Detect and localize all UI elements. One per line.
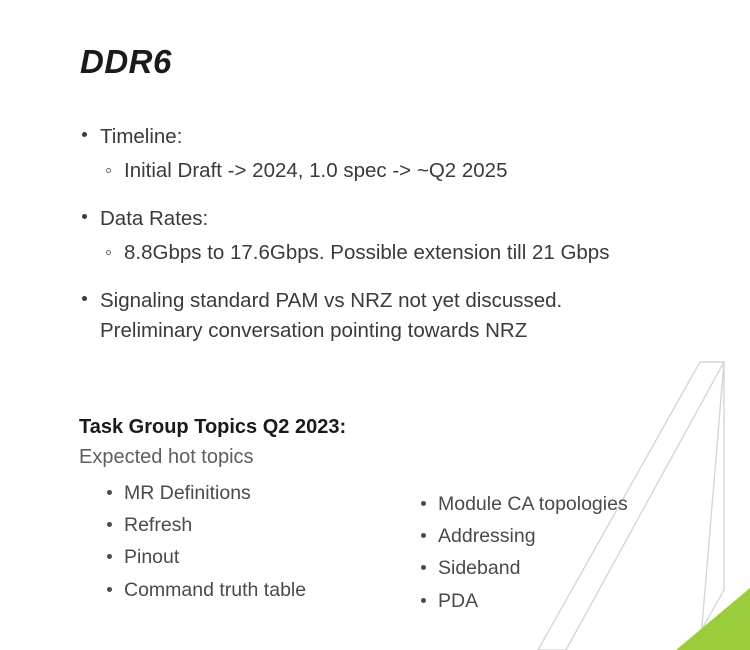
bullet-dot-icon bbox=[82, 132, 87, 137]
bullet-level1-timeline-label: Timeline: bbox=[100, 125, 182, 148]
bullet-level1-data-rates-label: Data Rates: bbox=[100, 207, 208, 230]
bullet-level1-timeline: Timeline: bbox=[78, 122, 718, 152]
bullet-dot-icon bbox=[421, 565, 426, 570]
bullet-ring-icon bbox=[106, 250, 111, 255]
bullet-dot-icon bbox=[421, 533, 426, 538]
bullet-group-timeline: Timeline: Initial Draft -> 2024, 1.0 spe… bbox=[78, 122, 718, 185]
list-item-label: Sideband bbox=[438, 557, 520, 579]
task-group-section: Task Group Topics Q2 2023: Expected hot … bbox=[79, 414, 719, 617]
list-item: Sideband bbox=[419, 552, 719, 584]
list-item: PDA bbox=[419, 585, 719, 617]
bullet-level2-timeline-detail: Initial Draft -> 2024, 1.0 spec -> ~Q2 2… bbox=[78, 156, 718, 186]
task-group-columns: MR Definitions Refresh Pinout Command tr… bbox=[79, 477, 719, 617]
bullet-level1-signaling-line2: Preliminary conversation pointing toward… bbox=[100, 319, 527, 342]
task-group-left-column: MR Definitions Refresh Pinout Command tr… bbox=[105, 477, 435, 606]
bullet-group-signaling: Signaling standard PAM vs NRZ not yet di… bbox=[78, 286, 718, 345]
list-item: Command truth table bbox=[105, 574, 435, 606]
task-group-heading: Task Group Topics Q2 2023: bbox=[79, 414, 719, 441]
bullet-dot-icon bbox=[107, 554, 112, 559]
list-item: MR Definitions bbox=[105, 477, 435, 509]
task-group-subheading: Expected hot topics bbox=[79, 444, 719, 471]
bullet-ring-icon bbox=[106, 168, 111, 173]
list-item: Refresh bbox=[105, 509, 435, 541]
bullet-dot-icon bbox=[82, 296, 87, 301]
list-item-label: MR Definitions bbox=[124, 482, 251, 504]
bullet-dot-icon bbox=[107, 587, 112, 592]
bullet-dot-icon bbox=[107, 490, 112, 495]
list-item: Addressing bbox=[419, 520, 719, 552]
bullet-dot-icon bbox=[107, 522, 112, 527]
list-item-label: Pinout bbox=[124, 546, 179, 568]
list-item: Module CA topologies bbox=[419, 488, 719, 520]
bullet-level2-timeline-label: Initial Draft -> 2024, 1.0 spec -> ~Q2 2… bbox=[124, 159, 507, 182]
list-item-label: PDA bbox=[438, 590, 478, 612]
list-item: Pinout bbox=[105, 541, 435, 573]
slide-body: Timeline: Initial Draft -> 2024, 1.0 spe… bbox=[78, 122, 718, 364]
list-item-label: Command truth table bbox=[124, 579, 306, 601]
slide-canvas: DDR6 Timeline: Initial Draft -> 2024, 1.… bbox=[0, 0, 750, 650]
bullet-level2-data-rates-detail: 8.8Gbps to 17.6Gbps. Possible extension … bbox=[78, 238, 718, 268]
bullet-group-data-rates: Data Rates: 8.8Gbps to 17.6Gbps. Possibl… bbox=[78, 204, 718, 267]
list-item-label: Addressing bbox=[438, 525, 536, 547]
page-title: DDR6 bbox=[80, 44, 172, 80]
bullet-level1-signaling-line1: Signaling standard PAM vs NRZ not yet di… bbox=[100, 289, 562, 312]
bullet-dot-icon bbox=[82, 214, 87, 219]
bullet-level2-data-rates-label: 8.8Gbps to 17.6Gbps. Possible extension … bbox=[124, 241, 609, 264]
bullet-dot-icon bbox=[421, 501, 426, 506]
list-item-label: Module CA topologies bbox=[438, 493, 628, 515]
bullet-level1-data-rates: Data Rates: bbox=[78, 204, 718, 234]
task-group-right-column: Module CA topologies Addressing Sideband… bbox=[419, 488, 719, 617]
list-item-label: Refresh bbox=[124, 514, 192, 536]
bullet-dot-icon bbox=[421, 598, 426, 603]
bullet-level1-signaling: Signaling standard PAM vs NRZ not yet di… bbox=[78, 286, 718, 345]
